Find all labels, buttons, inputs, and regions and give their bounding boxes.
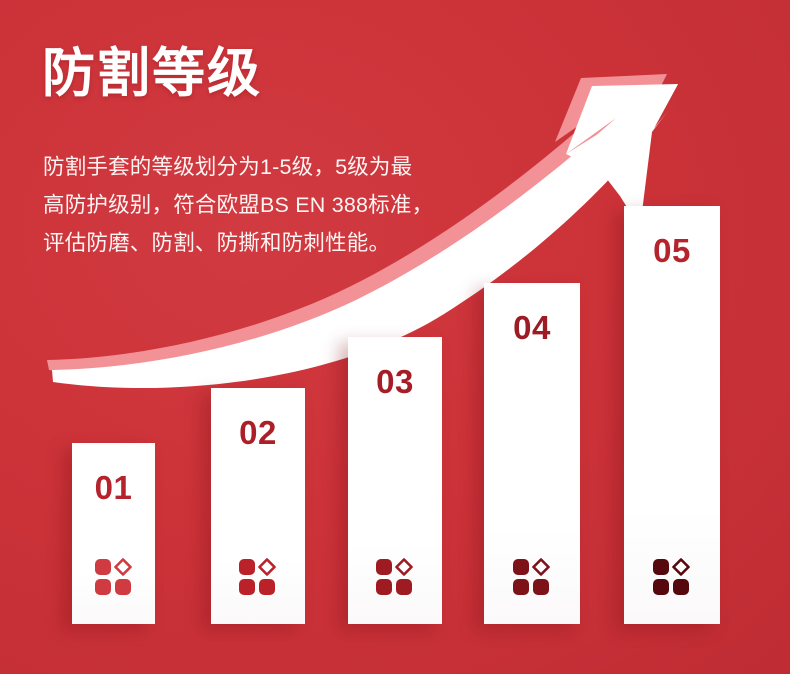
- level-bar-01: 01: [72, 443, 155, 624]
- page-title: 防割等级: [42, 46, 262, 102]
- four-square-grade-icon: [238, 558, 278, 596]
- level-bar-02: 02: [211, 388, 305, 624]
- four-square-grade-icon: [512, 558, 552, 596]
- description-line-3: 评估防磨、防割、防撕和防刺性能。: [43, 224, 495, 262]
- cut-resistance-level-poster: 防割等级 防割手套的等级划分为1-5级，5级为最 高防护级别，符合欧盟BS EN…: [0, 0, 790, 674]
- description-line-1: 防割手套的等级划分为1-5级，5级为最: [43, 148, 495, 186]
- level-bar-label-02: 02: [211, 414, 305, 452]
- four-square-grade-icon: [375, 558, 415, 596]
- four-square-grade-icon: [94, 558, 134, 596]
- description-line-2: 高防护级别，符合欧盟BS EN 388标准，: [43, 186, 495, 224]
- level-bar-03: 03: [348, 337, 442, 624]
- level-bar-label-01: 01: [72, 469, 155, 507]
- four-square-grade-icon: [652, 558, 692, 596]
- level-bar-04: 04: [484, 283, 580, 624]
- description-text: 防割手套的等级划分为1-5级，5级为最 高防护级别，符合欧盟BS EN 388标…: [43, 148, 495, 262]
- level-bar-05: 05: [624, 206, 720, 624]
- level-bar-label-03: 03: [348, 363, 442, 401]
- level-bar-label-04: 04: [484, 309, 580, 347]
- level-bar-label-05: 05: [624, 232, 720, 270]
